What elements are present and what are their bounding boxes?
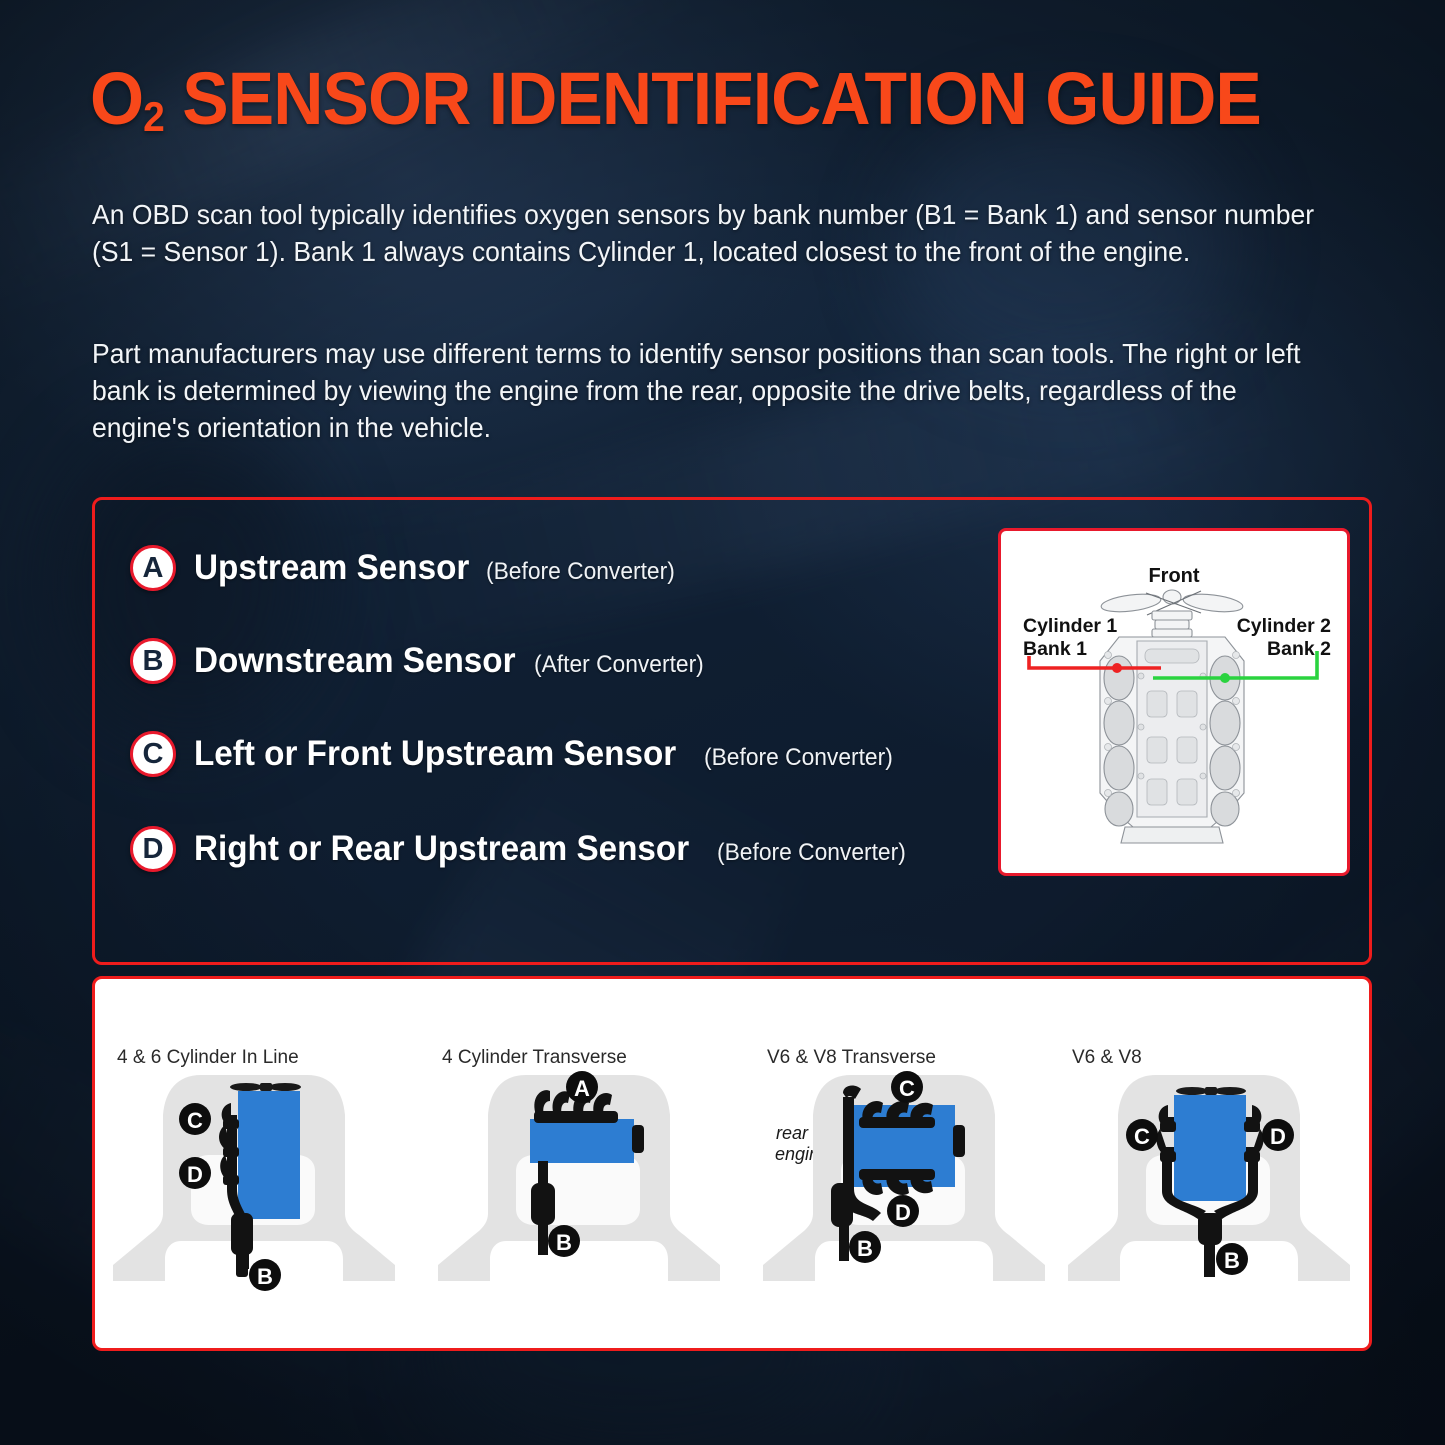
exhaust-manifold-front <box>859 1169 935 1195</box>
page-title-o: O <box>90 57 143 140</box>
intro-paragraph-2: Part manufacturers may use different ter… <box>92 336 1322 447</box>
fan-icon <box>230 1083 301 1091</box>
svg-text:B: B <box>857 1236 873 1261</box>
engine-block-blue <box>238 1091 300 1219</box>
badge-b-icon: B <box>130 638 176 684</box>
transmission-icon <box>632 1125 644 1153</box>
exhaust-manifold-rear <box>859 1101 935 1128</box>
legend-item-a[interactable]: A Upstream Sensor (Before Converter) <box>130 545 685 591</box>
legend-item-d-note: (Before Converter) <box>717 839 906 867</box>
marker-b: B <box>249 1259 281 1291</box>
legend-item-b-label: Downstream Sensor <box>194 641 516 681</box>
marker-a: A <box>566 1071 598 1103</box>
svg-text:D: D <box>895 1200 911 1225</box>
diagram-inline-graphic: C D B <box>105 1063 425 1313</box>
diagram-inline-4-6-cylinder: 4 & 6 Cylinder In Line <box>105 1005 425 1335</box>
page-title-rest: SENSOR IDENTIFICATION GUIDE <box>164 57 1261 140</box>
svg-text:B: B <box>556 1230 572 1255</box>
marker-d: D <box>887 1195 919 1227</box>
badge-a-icon: A <box>130 545 176 591</box>
bank2-pointer-dot <box>1220 673 1230 683</box>
svg-text:B: B <box>257 1264 273 1289</box>
diagram-transverse-v6-v8: V6 & V8 Transverse rear of engine <box>755 1005 1075 1335</box>
page-title-subscript: 2 <box>143 93 164 140</box>
svg-text:D: D <box>1270 1124 1286 1149</box>
svg-text:C: C <box>187 1108 203 1133</box>
bank1-pointer-dot <box>1112 663 1122 673</box>
marker-d: D <box>179 1157 211 1189</box>
marker-b: B <box>1216 1243 1248 1275</box>
diagram-v6v8-graphic: C D B <box>1060 1063 1380 1313</box>
engine-block-blue <box>1174 1095 1246 1201</box>
diagram-transverse-4-cylinder: 4 Cylinder Transverse <box>430 1005 750 1335</box>
fan-icon <box>1176 1087 1246 1095</box>
legend-item-c-note: (Before Converter) <box>704 744 893 772</box>
svg-text:B: B <box>1224 1248 1240 1273</box>
diagram-transverse4-graphic: A B <box>430 1063 750 1313</box>
svg-text:A: A <box>574 1076 590 1101</box>
svg-text:C: C <box>899 1076 915 1101</box>
intro-paragraph-1: An OBD scan tool typically identifies ox… <box>92 197 1322 271</box>
marker-d: D <box>1262 1119 1294 1151</box>
legend-item-d-label: Right or Rear Upstream Sensor <box>194 829 689 869</box>
svg-text:D: D <box>187 1162 203 1187</box>
transmission-icon <box>953 1125 965 1157</box>
marker-c: C <box>1126 1119 1158 1151</box>
marker-c: C <box>179 1103 211 1135</box>
marker-b: B <box>548 1225 580 1257</box>
legend-item-d[interactable]: D Right or Rear Upstream Sensor (Before … <box>130 826 916 872</box>
diagram-transverseV-graphic: C D B <box>755 1063 1075 1313</box>
svg-text:C: C <box>1134 1124 1150 1149</box>
legend-item-b[interactable]: B Downstream Sensor (After Converter) <box>130 638 713 684</box>
legend-item-b-note: (After Converter) <box>534 651 704 679</box>
badge-d-icon: D <box>130 826 176 872</box>
page-title: O2 SENSOR IDENTIFICATION GUIDE <box>90 62 1261 136</box>
engine-block-blue <box>530 1119 634 1163</box>
diagram-longitudinal-v6-v8: V6 & V8 <box>1060 1005 1380 1335</box>
legend-item-c-label: Left or Front Upstream Sensor <box>194 734 676 774</box>
engine-bank-diagram-card: Front Cylinder 1 Bank 1 Cylinder 2 Bank … <box>998 528 1350 876</box>
legend-item-a-note: (Before Converter) <box>486 558 675 586</box>
legend-item-c[interactable]: C Left or Front Upstream Sensor (Before … <box>130 731 902 777</box>
badge-c-icon: C <box>130 731 176 777</box>
marker-c: C <box>891 1071 923 1103</box>
engine-block-illustration <box>1001 531 1347 873</box>
legend-item-a-label: Upstream Sensor <box>194 548 469 588</box>
marker-b: B <box>849 1231 881 1263</box>
